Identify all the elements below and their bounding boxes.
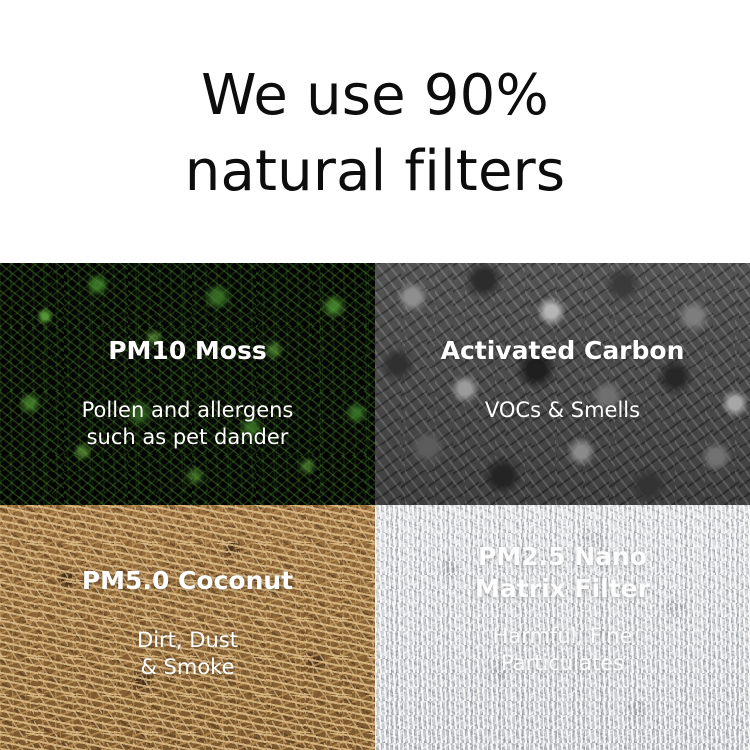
panel-subtitle: Harmful, Fine Particulates [389,623,736,677]
panel-title: PM2.5 Nano Matrix Filter [389,541,736,605]
panel-title: Activated Carbon [389,335,736,367]
panel-subtitle: Dirt, Dust & Smoke [14,627,361,681]
panel-subtitle: Pollen and allergens such as pet dander [14,397,361,451]
filter-panel-coconut[interactable]: PM5.0 Coconut Dirt, Dust & Smoke [0,505,375,750]
panel-text-block: PM2.5 Nano Matrix Filter Harmful, Fine P… [375,505,750,677]
filter-panel-nano-matrix[interactable]: PM2.5 Nano Matrix Filter Harmful, Fine P… [375,505,750,750]
filter-panel-grid: PM10 Moss Pollen and allergens such as p… [0,263,750,750]
panel-text-block: Activated Carbon VOCs & Smells [375,263,750,424]
panel-title: PM10 Moss [14,335,361,367]
panel-text-block: PM5.0 Coconut Dirt, Dust & Smoke [0,505,375,681]
panel-title: PM5.0 Coconut [14,565,361,597]
filter-panel-moss[interactable]: PM10 Moss Pollen and allergens such as p… [0,263,375,505]
promo-graphic: We use 90% natural filters PM10 Moss Pol… [0,0,750,750]
panel-text-block: PM10 Moss Pollen and allergens such as p… [0,263,375,451]
page-title: We use 90% natural filters [0,58,750,210]
panel-subtitle: VOCs & Smells [389,397,736,424]
filter-panel-activated-carbon[interactable]: Activated Carbon VOCs & Smells [375,263,750,505]
